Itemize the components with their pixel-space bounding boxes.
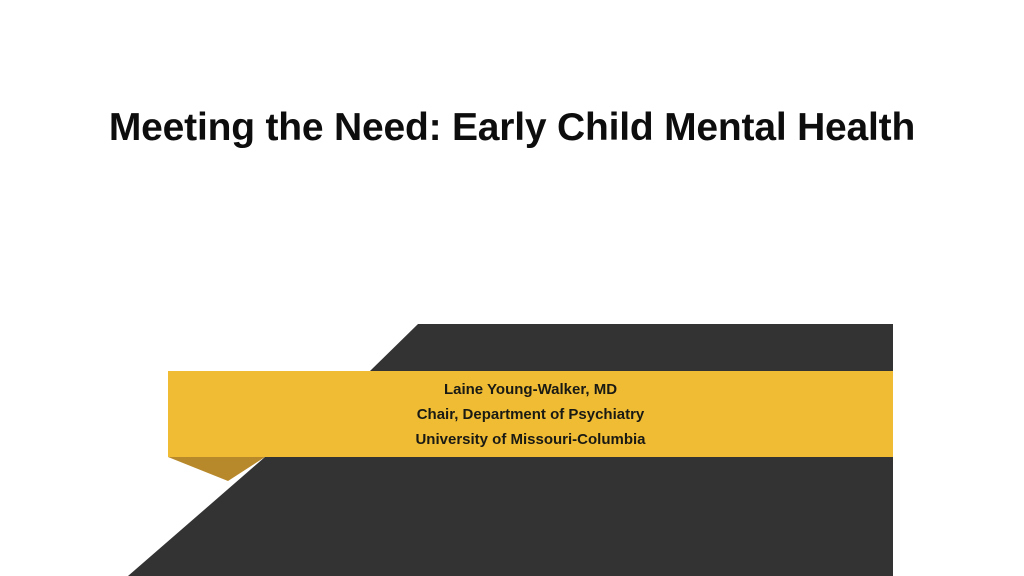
presenter-title: Chair, Department of Psychiatry [417, 402, 645, 427]
ribbon-fold-shadow-shape [168, 457, 265, 481]
presenter-name: Laine Young-Walker, MD [444, 377, 617, 402]
presenter-info-block: Laine Young-Walker, MD Chair, Department… [168, 372, 893, 457]
page-title: Meeting the Need: Early Child Mental Hea… [0, 103, 1024, 153]
banner-ribbon-graphic [0, 0, 1024, 576]
presentation-slide: Meeting the Need: Early Child Mental Hea… [0, 0, 1024, 576]
ribbon-top-flap-shape [370, 324, 893, 371]
title-block: Meeting the Need: Early Child Mental Hea… [0, 103, 1024, 153]
presenter-affiliation: University of Missouri-Columbia [415, 427, 645, 452]
ribbon-bottom-flap-shape [128, 457, 893, 576]
